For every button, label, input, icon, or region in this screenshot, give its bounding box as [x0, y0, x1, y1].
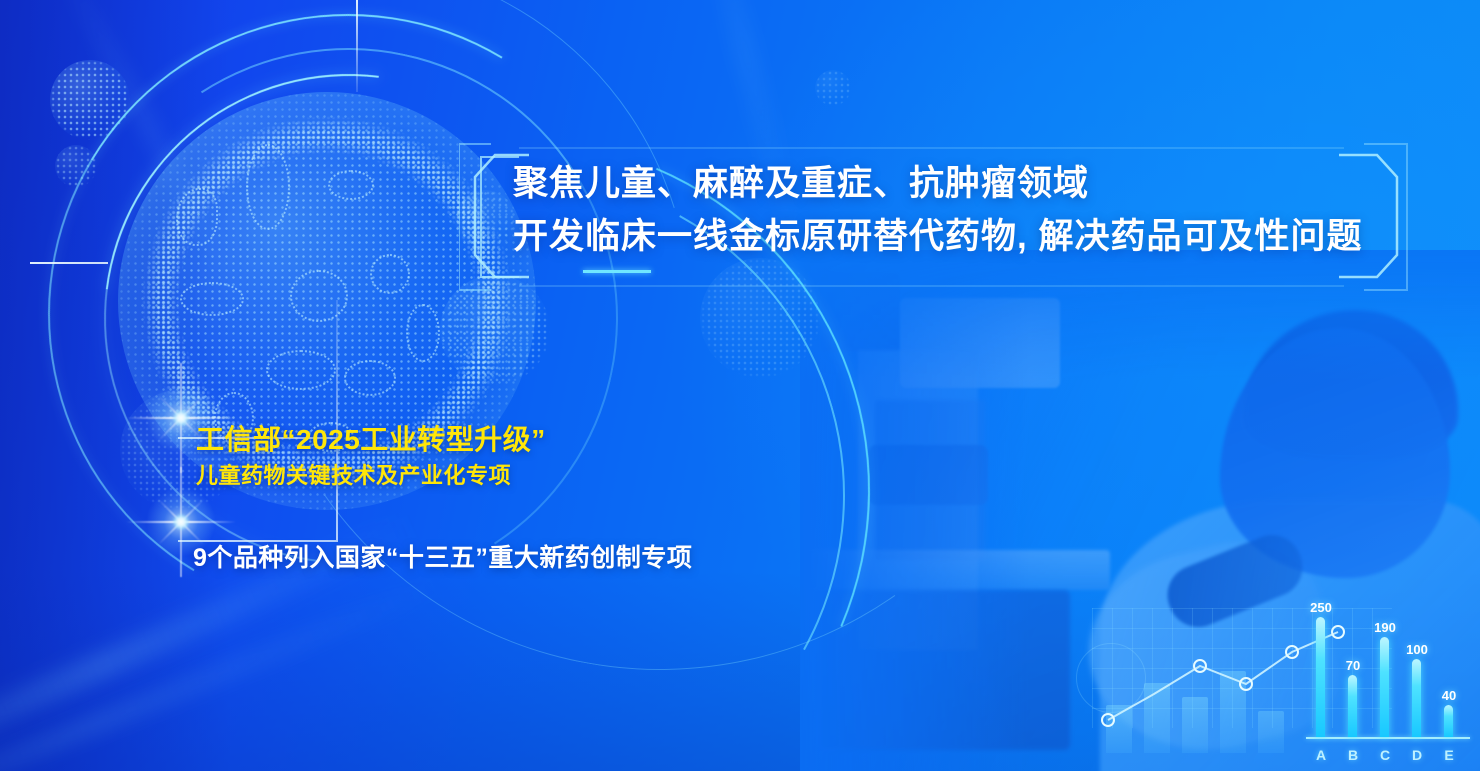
headline: 聚焦儿童、麻醉及重症、抗肿瘤领域 开发临床一线金标原研替代药物, 解决药品可及性…: [513, 158, 1413, 264]
headline-line-1: 聚焦儿童、麻醉及重症、抗肿瘤领域: [513, 158, 1413, 210]
photo-top-fade: [800, 250, 1480, 380]
headline-underline: [583, 270, 651, 273]
light-streak: [0, 570, 458, 771]
microscope-lab-photo: [800, 250, 1480, 771]
molecule-sphere-icon: [815, 70, 851, 106]
marketing-banner: 250 70 190 100 40 A B C D E: [0, 0, 1480, 771]
molecule-sphere-icon: [50, 60, 130, 140]
headline-line-2: 开发临床一线金标原研替代药物, 解决药品可及性问题: [513, 210, 1413, 264]
bullet-1-secondary: 儿童药物关键技术及产业化专项: [196, 458, 511, 490]
sparkle-star-icon: [180, 521, 181, 522]
guide-line-horizontal: [30, 262, 108, 264]
bullet-2-primary: 9个品种列入国家“十三五”重大新药创制专项: [193, 538, 692, 574]
molecule-sphere-icon: [700, 258, 820, 378]
bullet-1-primary: 工信部“2025工业转型升级”: [196, 418, 546, 458]
guide-line-vertical: [356, 0, 358, 92]
molecule-sphere-icon: [55, 145, 97, 187]
